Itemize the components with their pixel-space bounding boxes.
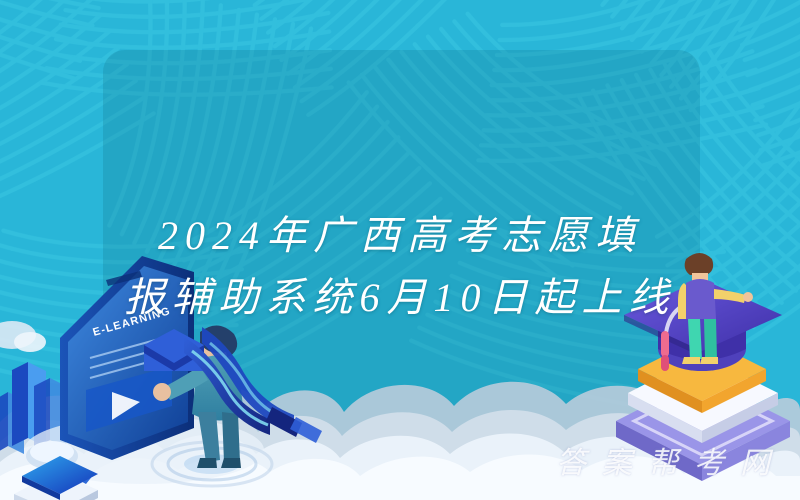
- ribbon-waves: [184, 327, 322, 443]
- site-watermark: 答案帮考网: [556, 438, 786, 482]
- promo-banner: E-LEARNING: [0, 0, 800, 500]
- illustration-ribbons-envelope: [140, 295, 360, 445]
